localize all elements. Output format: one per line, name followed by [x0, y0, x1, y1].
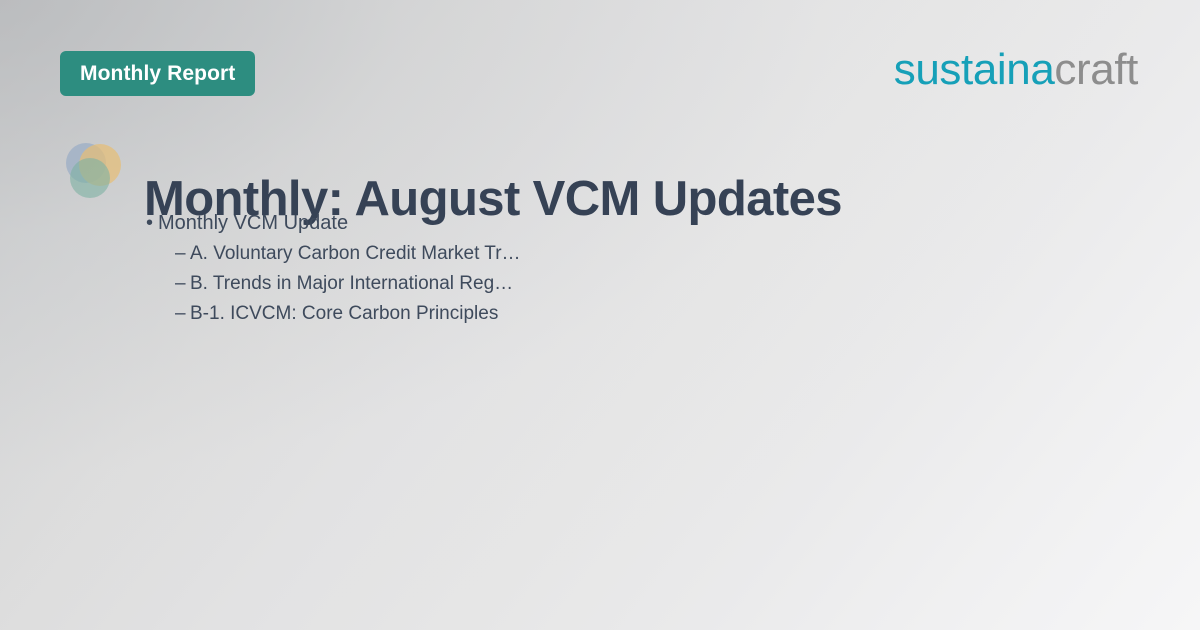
list-item-label: B. Trends in Major International Reg…: [190, 269, 513, 299]
list-item: • Monthly VCM Update: [146, 208, 1106, 239]
monthly-report-badge[interactable]: Monthly Report: [60, 51, 255, 96]
badge-label: Monthly Report: [80, 63, 235, 84]
slide-canvas: Monthly Report sustainacraft Monthly: Au…: [0, 0, 1200, 630]
dash-marker: –: [175, 269, 190, 299]
logo-circle-teal: [70, 158, 110, 198]
sustainacraft-logo[interactable]: sustainacraft: [894, 48, 1138, 92]
outline-list: • Monthly VCM Update – A. Voluntary Carb…: [146, 208, 1106, 329]
list-item: – B. Trends in Major International Reg…: [146, 269, 1106, 299]
dash-marker: –: [175, 299, 190, 329]
list-item: – A. Voluntary Carbon Credit Market Tr…: [146, 239, 1106, 269]
bullet-marker: •: [146, 208, 158, 239]
list-item-label: B-1. ICVCM: Core Carbon Principles: [190, 299, 498, 329]
brand-primary-text: sustaina: [894, 48, 1055, 92]
list-item: – B-1. ICVCM: Core Carbon Principles: [146, 299, 1106, 329]
list-item-label: Monthly VCM Update: [158, 208, 348, 239]
dash-marker: –: [175, 239, 190, 269]
brand-secondary-text: craft: [1054, 48, 1138, 92]
list-item-label: A. Voluntary Carbon Credit Market Tr…: [190, 239, 521, 269]
three-overlapping-circles-icon: [60, 136, 126, 202]
